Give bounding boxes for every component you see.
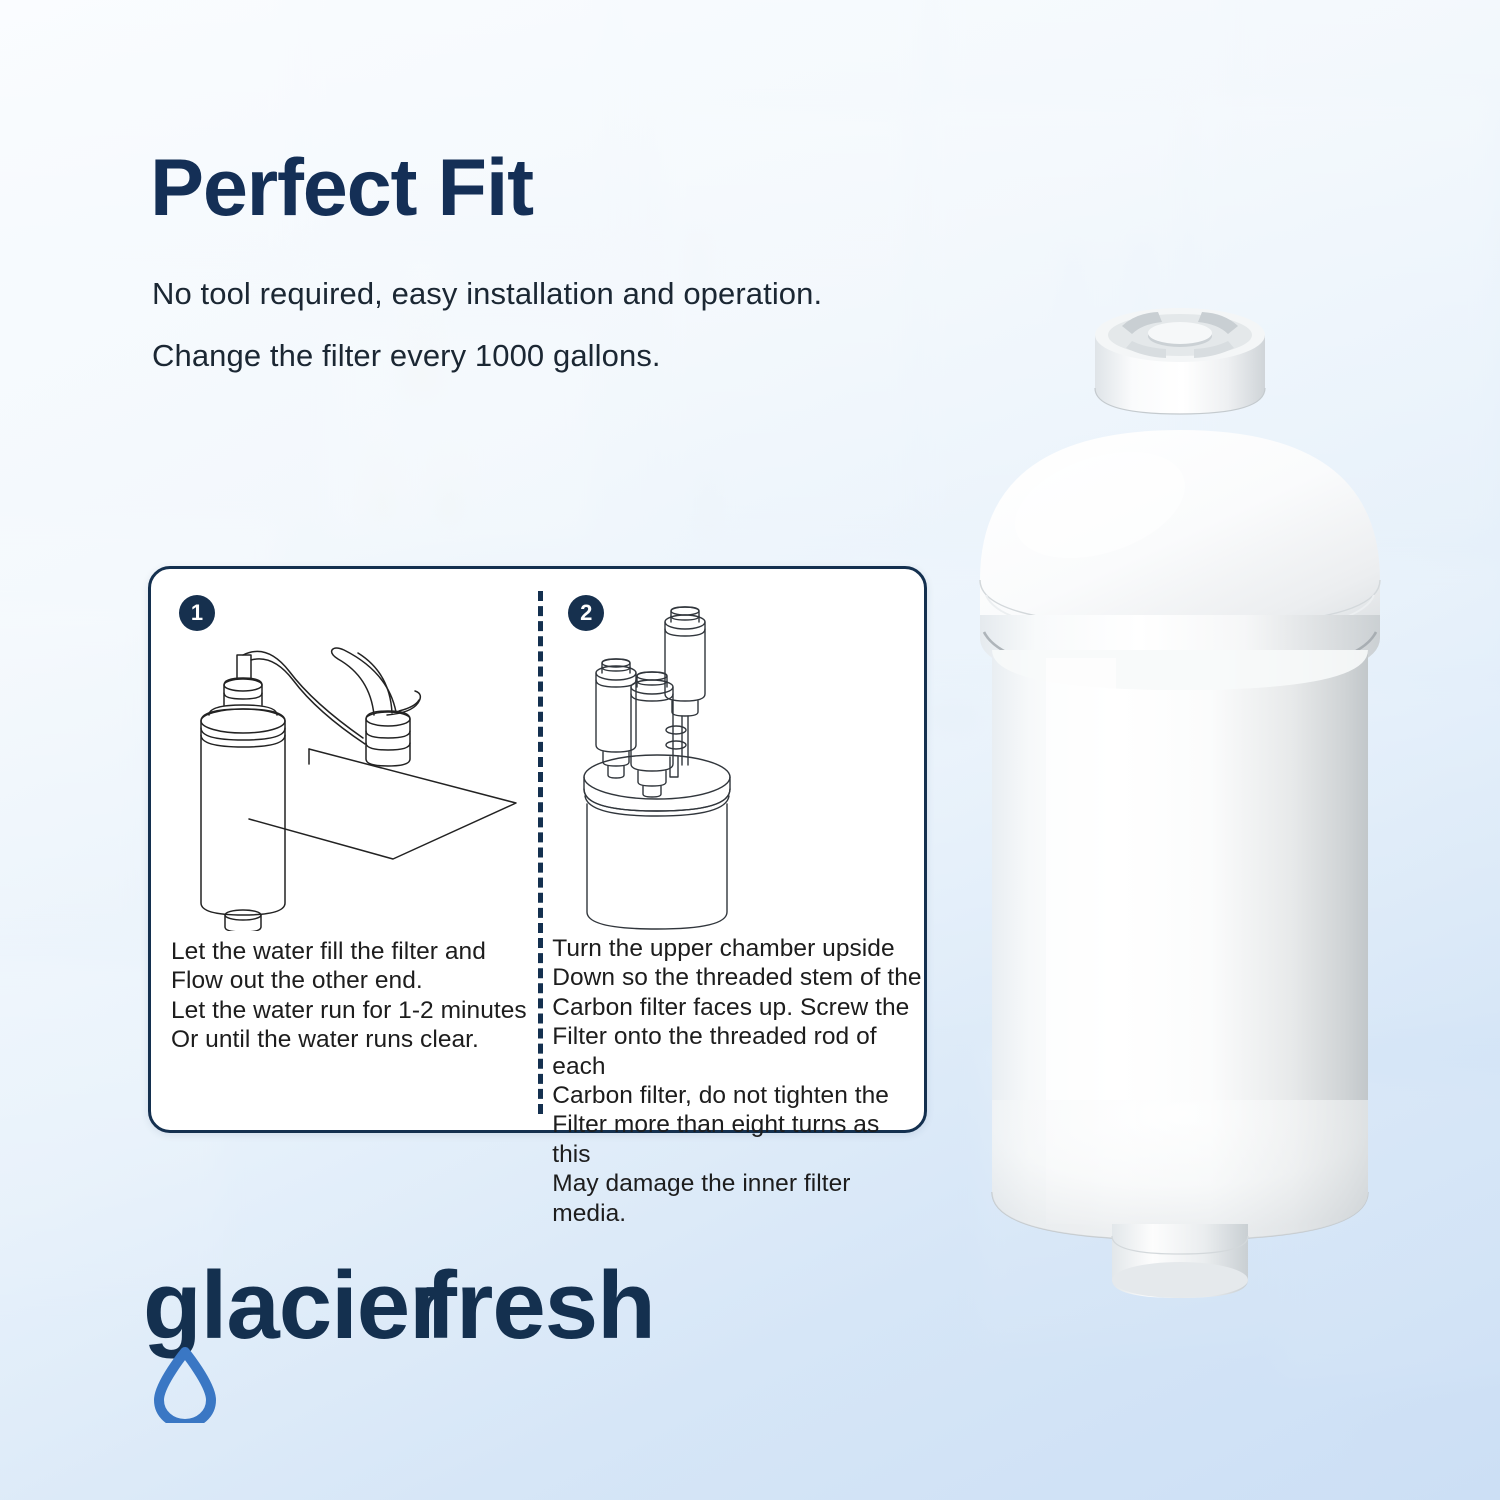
subtitle-line-2: Change the filter every 1000 gallons. [152,338,661,374]
water-droplet-icon [159,1352,211,1423]
faucet-and-filter-illustration [161,631,531,931]
domed-cap [980,430,1380,684]
instruction-step-2: 2 [538,569,924,1130]
instruction-step-1: 1 [151,569,538,1130]
product-marketing-image: Perfect Fit No tool required, easy insta… [0,0,1500,1500]
step-number-badge-1: 1 [179,595,215,631]
cylinder-body [992,650,1368,1240]
brand-name-glacier: glacier [143,1258,446,1359]
brand-logo: glacier fresh [143,1258,688,1423]
step-1-text: Let the water fill the filter and Flow o… [171,937,527,1055]
subtitle-line-1: No tool required, easy installation and … [152,276,822,312]
brand-name-fresh: fresh [425,1258,655,1359]
step-2-text: Turn the upper chamber upside Down so th… [552,934,924,1228]
page-title: Perfect Fit [150,148,533,229]
instruction-card: 1 [148,566,927,1133]
chamber-and-carbon-filters-illustration [558,579,888,934]
outlet-nipple [1112,1224,1248,1298]
threaded-collar [1095,308,1265,414]
product-photo-water-filter [950,280,1470,1310]
